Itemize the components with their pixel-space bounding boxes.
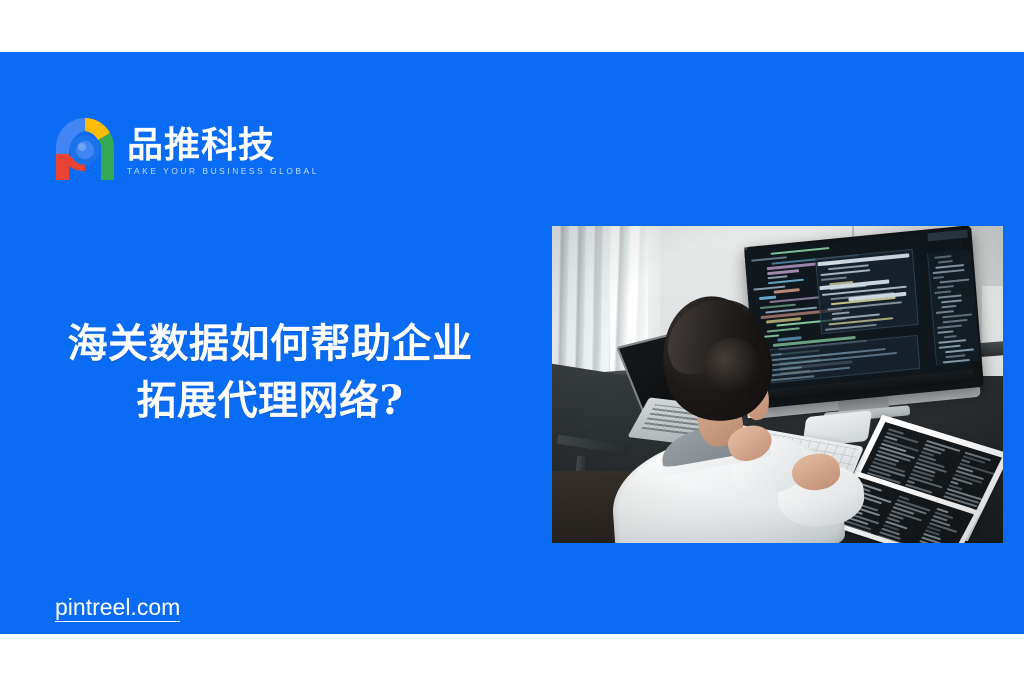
photo-file-tree-row xyxy=(943,319,968,324)
photo-file-tree-row xyxy=(934,255,952,259)
page-title-line-2: 拓展代理网络? xyxy=(10,373,530,430)
photo-monitor xyxy=(744,226,984,409)
logo-text: 品推科技 TAKE YOUR BUSINESS GLOBAL xyxy=(127,122,319,177)
photo-editor-sidebar xyxy=(927,249,972,365)
photo-code-line xyxy=(767,269,799,275)
blue-banner: 品推科技 TAKE YOUR BUSINESS GLOBAL 海关数据如何帮助企… xyxy=(0,52,1024,634)
photo-file-tree-row xyxy=(937,330,953,334)
page-title: 海关数据如何帮助企业 拓展代理网络? xyxy=(10,316,530,430)
photo-file-tree-row xyxy=(937,285,954,289)
photo-file-tree-row xyxy=(936,310,954,314)
website-url-link[interactable]: pintreel.com xyxy=(55,595,180,622)
photo-file-tree-row xyxy=(933,276,944,279)
hero-photo xyxy=(552,226,1003,543)
photo-code-line xyxy=(777,337,801,342)
photo-file-tree-row xyxy=(934,290,951,294)
page-title-line-1: 海关数据如何帮助企业 xyxy=(68,320,473,367)
photo-file-tree-row xyxy=(939,279,970,284)
photo-file-tree-row xyxy=(938,294,962,299)
logo-tagline: TAKE YOUR BUSINESS GLOBAL xyxy=(127,166,319,176)
photo-code-line xyxy=(768,275,788,279)
poster-canvas: 品推科技 TAKE YOUR BUSINESS GLOBAL 海关数据如何帮助企… xyxy=(0,0,1024,683)
photo-code-line xyxy=(769,296,819,303)
photo-file-tree-row xyxy=(938,339,966,344)
photo-file-tree-row xyxy=(941,305,957,309)
photo-file-tree-row xyxy=(939,345,961,349)
photo-file-tree-row xyxy=(942,313,972,318)
logo-company-name: 品推科技 xyxy=(127,126,319,164)
photo-file-tree-row xyxy=(941,299,962,303)
photo-file-tree-row xyxy=(937,324,962,329)
photo-file-tree-row xyxy=(938,260,953,264)
photo-code-line xyxy=(759,296,777,300)
photo-code-line xyxy=(767,327,800,333)
photo-file-tree-row xyxy=(945,348,973,353)
photo-monitor-screen xyxy=(744,229,972,391)
pa-monogram-logo-icon xyxy=(52,114,118,184)
photo-code-line xyxy=(771,247,830,255)
photo-file-tree-row xyxy=(945,354,965,358)
photo-file-tree-row xyxy=(944,335,957,339)
photo-file-tree-row xyxy=(933,269,965,274)
brand-logo[interactable]: 品推科技 TAKE YOUR BUSINESS GLOBAL xyxy=(52,114,319,184)
photo-code-line xyxy=(768,279,804,285)
photo-code-line xyxy=(774,289,800,294)
